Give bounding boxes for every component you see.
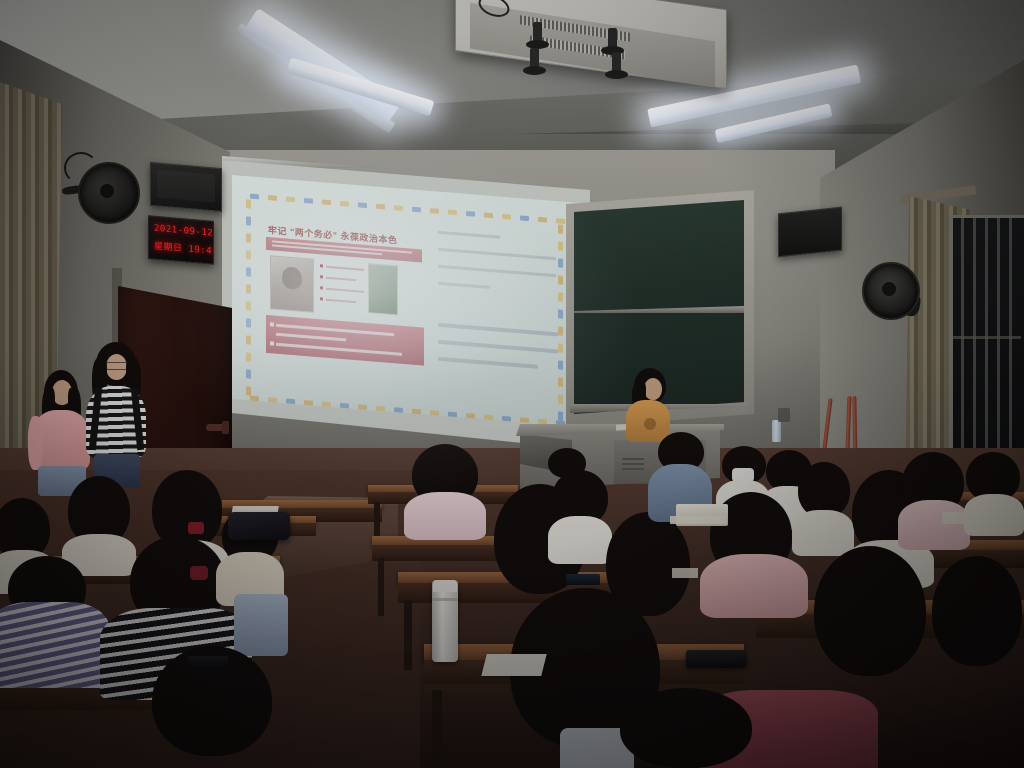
slide-border-dash: [558, 326, 563, 335]
slide-border-dash: [558, 309, 563, 318]
slide-border-dash: [246, 284, 251, 293]
slide-border-dash: [502, 416, 511, 422]
thermos-bottle: [432, 580, 458, 662]
slide-border-dash: [412, 409, 421, 415]
slide-chinese-line: [438, 357, 538, 369]
clock-time-line: 星期日 19:45: [154, 239, 214, 258]
slide-border-dash: [556, 218, 565, 224]
slide-border-dash: [304, 198, 313, 204]
led-wall-clock: 2021-09-12 星期日 19:45: [148, 215, 214, 265]
classroom-scene: 牢记 "两个务必" 永葆政治本色 2021-09-12 星期日 19:45: [0, 0, 1024, 768]
slide-border-dash: [250, 194, 259, 200]
slide-bullet-marker: [320, 297, 323, 300]
slide-callout-box: [266, 315, 424, 366]
slide-book-cover-image: [368, 263, 398, 315]
slide-english-line: [438, 248, 556, 260]
slide-border-dash: [558, 275, 563, 284]
slide-border-dash: [448, 210, 457, 216]
smartphone-left: [188, 656, 228, 670]
slide-border-dash: [322, 401, 331, 407]
wall-speaker-left: [150, 162, 222, 212]
slide-bullet-line: [326, 277, 356, 281]
slide-border-dash: [340, 201, 349, 207]
slide-border-dash: [322, 199, 331, 205]
slide-border-dash: [340, 403, 349, 409]
slide-border-dash: [286, 197, 295, 203]
ac-mount-rod: [530, 48, 539, 70]
slide-border-dash: [376, 406, 385, 412]
slide-border-dash: [558, 224, 563, 233]
slide-border-dash: [558, 360, 563, 369]
wall-fan-left: [78, 162, 138, 224]
barred-window: [950, 215, 1024, 486]
slide-border-dash: [304, 400, 313, 406]
seated-student: [544, 448, 590, 492]
slide-border-dash: [246, 318, 251, 327]
slide-border-dash: [268, 195, 277, 201]
slide-bullet-marker: [320, 286, 323, 289]
slide-border-dash: [246, 233, 251, 242]
slide-bullet-line: [326, 266, 364, 271]
paper-sheet: [481, 654, 546, 676]
slide-border-dash: [558, 411, 563, 420]
slide-border-dash: [246, 369, 251, 378]
chalk-cup: [778, 408, 790, 422]
slide-border-dash: [358, 404, 367, 410]
slide-border-dash: [466, 413, 475, 419]
smartphone-mid: [566, 574, 600, 585]
slide-border-dash: [246, 301, 251, 310]
slide-chinese-line: [438, 340, 558, 354]
slide-callout-line: [276, 333, 346, 341]
slide-bullet-line: [326, 299, 356, 303]
water-bottle: [772, 420, 781, 442]
presentation-slide: 牢记 "两个务必" 永葆政治本色: [242, 189, 570, 427]
backpack: [228, 512, 290, 540]
ac-mount-rod: [608, 28, 617, 50]
podium-vent-icon: [622, 463, 644, 465]
slide-border-dash: [358, 202, 367, 208]
slide-border-dash: [558, 377, 563, 386]
paper-sheet: [672, 568, 698, 578]
slide-border-dash: [558, 258, 563, 267]
slide-border-dash: [412, 207, 421, 213]
slide-border-dash: [286, 399, 295, 405]
slide-border-dash: [484, 212, 493, 218]
seated-student: [620, 688, 760, 768]
hair-tie: [190, 566, 208, 580]
slide-border-dash: [250, 396, 259, 402]
seated-student: [404, 444, 488, 528]
slide-border-dash: [558, 394, 563, 403]
slide-border-dash: [430, 410, 439, 416]
slide-chinese-line: [438, 323, 558, 337]
seated-student: [964, 452, 1024, 532]
slide-english-line: [438, 282, 490, 289]
slide-border-dash: [376, 204, 385, 210]
slide-bullet-list: [320, 261, 364, 311]
ac-mount-rod: [533, 22, 542, 44]
wall-speaker-right: [778, 207, 842, 258]
podium-vent-icon: [622, 468, 644, 470]
paper-sheet: [942, 512, 972, 524]
slide-border-dash: [246, 352, 251, 361]
slide-border-dash: [448, 412, 457, 418]
wall-fan-right: [862, 262, 918, 320]
seated-student: [806, 546, 936, 696]
slide-border-dash: [558, 292, 563, 301]
slide-border-dash: [394, 407, 403, 413]
slide-border-dash: [520, 215, 529, 221]
slide-border-dash: [246, 335, 251, 344]
slide-english-line: [438, 231, 500, 239]
podium-vent-icon: [622, 458, 644, 460]
slide-border-dash: [558, 343, 563, 352]
clock-date-line: 2021-09-12: [154, 224, 213, 239]
slide-border-dash: [246, 250, 251, 259]
slide-bullet-line: [326, 288, 364, 293]
slide-bullet-marker: [320, 275, 323, 278]
slide-english-line: [438, 265, 556, 277]
hair-tie: [188, 522, 204, 534]
slide-border-dash: [484, 414, 493, 420]
slide-border-dash: [246, 216, 251, 225]
slide-callout-line: [276, 343, 402, 356]
slide-border-dash: [558, 241, 563, 250]
slide-border-dash: [538, 217, 547, 223]
slide-callout-marker: [270, 322, 274, 326]
seated-student: [930, 556, 1024, 688]
projection-screen: 牢记 "两个务必" 永葆政治本色: [232, 175, 580, 427]
slide-chinese-paragraph: [438, 323, 562, 333]
slide-portrait-photo: [270, 255, 314, 313]
slide-english-paragraph: [438, 231, 562, 241]
slide-border-dash: [394, 205, 403, 211]
seated-student: [898, 452, 972, 544]
slide-border-dash: [246, 386, 251, 395]
slide-border-dash: [430, 208, 439, 214]
door-handle[interactable]: [206, 424, 226, 431]
presenter-at-podium: [626, 368, 672, 440]
smartphone-front: [686, 650, 746, 668]
ac-mount-rod: [612, 52, 621, 74]
slide-callout-marker: [270, 341, 274, 345]
book-stack: [670, 516, 726, 524]
slide-border-dash: [246, 199, 251, 208]
slide-border-dash: [466, 211, 475, 217]
slide-border-dash: [502, 214, 511, 220]
slide-border-dash: [520, 417, 529, 423]
slide-border-dash: [268, 397, 277, 403]
slide-border-dash: [246, 267, 251, 276]
slide-bullet-marker: [320, 264, 323, 267]
